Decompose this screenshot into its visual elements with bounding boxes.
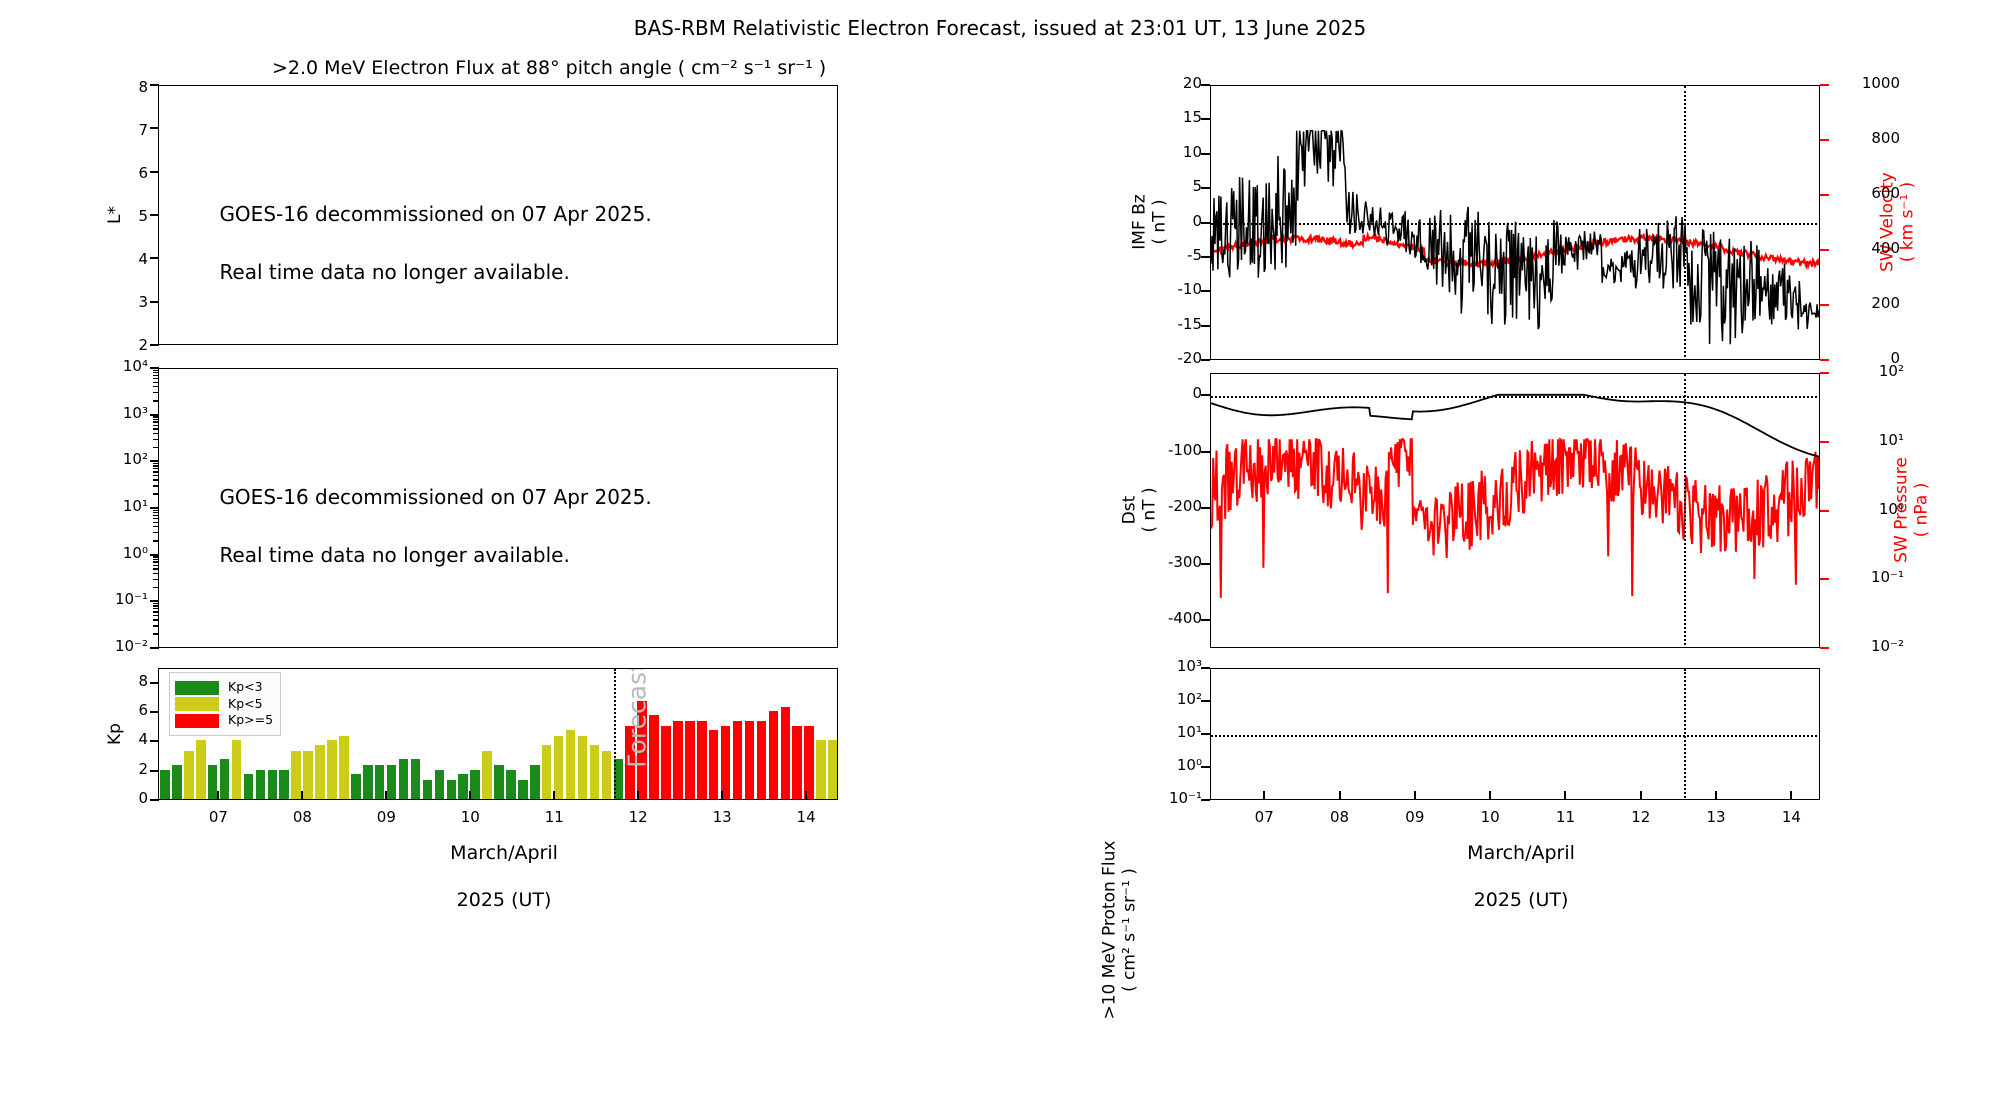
dst-trace — [1211, 374, 1820, 648]
axis-tick-mark — [1201, 187, 1210, 189]
kp-bar — [757, 721, 767, 799]
axis-tick-mark — [153, 633, 159, 634]
kp-bar — [184, 751, 194, 799]
axis-tick-mark — [1820, 84, 1829, 86]
axis-tick-label: 400 — [1834, 239, 1900, 257]
kp-bar — [816, 740, 826, 799]
axis-tick-mark — [1820, 194, 1829, 196]
kp-bar — [411, 759, 421, 799]
proton-xlabel-line2: 2025 (UT) — [1474, 889, 1569, 911]
axis-tick-mark — [1201, 700, 1210, 702]
axis-tick-mark — [217, 791, 219, 800]
axis-tick-label: 10² — [1130, 690, 1202, 708]
kp-bar — [721, 726, 731, 799]
kp-bar — [232, 740, 242, 799]
axis-tick-mark — [469, 791, 471, 800]
axis-tick-mark — [1820, 510, 1829, 512]
axis-tick-mark — [1820, 372, 1829, 374]
kp-legend-swatch-red — [175, 714, 219, 728]
kp-bar — [351, 774, 361, 799]
axis-tick-mark — [1201, 563, 1210, 565]
axis-tick-mark — [1201, 507, 1210, 509]
axis-tick-label: 10³ — [1130, 657, 1202, 675]
axis-tick-mark — [301, 791, 303, 800]
lstar-message-line1: GOES-16 decommissioned on 07 Apr 2025. — [219, 202, 651, 226]
axis-tick-mark — [1820, 578, 1829, 580]
kp-bar — [769, 711, 779, 799]
axis-tick-mark — [153, 433, 159, 434]
axis-tick-label: 5 — [1140, 177, 1202, 195]
axis-tick-mark — [153, 392, 159, 393]
kp-bar — [554, 736, 564, 799]
axis-tick-mark — [153, 615, 159, 616]
axis-tick-mark — [153, 608, 159, 609]
axis-tick-label: 10⁻¹ — [80, 590, 148, 608]
kp-legend-label-0: Kp<3 — [228, 681, 263, 694]
dst-forecast-divider — [1684, 374, 1686, 648]
kp-bar — [447, 780, 457, 799]
axis-tick-mark — [153, 625, 159, 626]
proton-xlabel-line1: March/April — [1467, 842, 1575, 864]
axis-tick-mark — [150, 171, 159, 173]
kp-bar — [685, 721, 695, 799]
panel-dst — [1210, 373, 1820, 648]
lstar-decommission-message: GOES-16 decommissioned on 07 Apr 2025. R… — [194, 171, 652, 316]
axis-tick-mark — [1820, 304, 1829, 306]
lstar-ytick-2: 2 — [98, 336, 148, 354]
axis-tick-mark — [153, 416, 159, 417]
axis-tick-mark — [153, 559, 159, 560]
kp-bar — [375, 765, 385, 799]
kp-bar — [590, 745, 600, 799]
panel-proton-flux — [1210, 668, 1820, 800]
axis-tick-mark — [150, 344, 159, 346]
axis-tick-mark — [150, 770, 159, 772]
axis-tick-label: 14 — [776, 808, 836, 826]
axis-tick-label: 10⁻¹ — [1834, 568, 1904, 586]
axis-tick-mark — [150, 257, 159, 259]
axis-tick-mark — [1564, 791, 1566, 800]
imfbz-forecast-divider — [1684, 86, 1686, 360]
kp-legend-item-2: Kp>=5 — [175, 714, 273, 728]
axis-tick-label: 0 — [1130, 384, 1202, 402]
kp-bar — [804, 726, 814, 799]
axis-tick-label: 0 — [1140, 212, 1202, 230]
panel-imf-bz — [1210, 85, 1820, 360]
kp-xlabel-line1: March/April — [450, 842, 558, 864]
kp-bar — [518, 780, 528, 799]
kp-bar — [399, 759, 409, 799]
axis-tick-mark — [153, 386, 159, 387]
kp-bar — [256, 770, 266, 799]
axis-tick-mark — [153, 587, 159, 588]
kp-bar — [745, 721, 755, 799]
axis-tick-mark — [385, 791, 387, 800]
proton-y-axis-label: >10 MeV Proton Flux ( cm² s⁻¹ sr⁻¹ ) — [1100, 765, 1139, 1095]
kp-legend-swatch-green — [175, 681, 219, 695]
axis-tick-mark — [153, 510, 159, 511]
kp-legend-label-2: Kp>=5 — [228, 714, 273, 727]
axis-tick-mark — [1201, 733, 1210, 735]
axis-tick-label: 2 — [98, 760, 148, 778]
axis-tick-label: 10⁻¹ — [1130, 789, 1202, 807]
kp-bar — [291, 751, 301, 799]
axis-tick-mark — [153, 605, 159, 606]
kp-bar — [268, 770, 278, 799]
kp-bar — [208, 765, 218, 799]
lstar-ytick-5: 5 — [98, 207, 148, 225]
page-title: BAS-RBM Relativistic Electron Forecast, … — [0, 16, 2000, 40]
axis-tick-label: -10 — [1140, 280, 1202, 298]
axis-tick-label: -400 — [1130, 609, 1202, 627]
axis-tick-mark — [150, 301, 159, 303]
axis-tick-mark — [153, 565, 159, 566]
flux-message-line1: GOES-16 decommissioned on 07 Apr 2025. — [219, 485, 651, 509]
axis-tick-label: 08 — [272, 808, 332, 826]
axis-tick-label: 10⁰ — [80, 544, 148, 562]
axis-tick-label: 07 — [1234, 808, 1294, 826]
proton-threshold-line — [1211, 735, 1820, 737]
axis-tick-mark — [153, 375, 159, 376]
axis-tick-mark — [153, 603, 159, 604]
kp-bar — [781, 707, 791, 799]
axis-tick-mark — [153, 518, 159, 519]
kp-bar — [160, 770, 170, 799]
axis-tick-label: 10¹ — [1130, 723, 1202, 741]
axis-tick-label: 08 — [1310, 808, 1370, 826]
axis-tick-mark — [153, 579, 159, 580]
kp-bar — [530, 765, 540, 799]
kp-bar — [709, 730, 719, 799]
axis-tick-mark — [150, 711, 159, 713]
axis-tick-label: 10² — [80, 450, 148, 468]
axis-tick-mark — [153, 556, 159, 557]
axis-tick-mark — [1201, 118, 1210, 120]
panel-lstar: GOES-16 decommissioned on 07 Apr 2025. R… — [158, 85, 838, 345]
kp-bar — [542, 745, 552, 799]
axis-tick-mark — [150, 84, 159, 86]
axis-tick-label: 10¹ — [80, 497, 148, 515]
electron-flux-subtitle: >2.0 MeV Electron Flux at 88° pitch angl… — [272, 57, 826, 79]
axis-tick-label: 20 — [1140, 74, 1202, 92]
axis-tick-mark — [1201, 153, 1210, 155]
imfbz-y-axis-label-right: SW Velocity ( km s⁻¹ ) — [1878, 122, 1917, 322]
axis-tick-mark — [153, 425, 159, 426]
axis-tick-label: 10² — [1834, 362, 1904, 380]
axis-tick-mark — [1201, 290, 1210, 292]
axis-tick-mark — [1820, 441, 1829, 443]
proton-x-axis-label: March/April 2025 (UT) — [1375, 818, 1655, 913]
axis-tick-mark — [153, 611, 159, 612]
kp-bar — [339, 736, 349, 799]
kp-bar — [244, 774, 254, 799]
axis-tick-label: -200 — [1130, 497, 1202, 515]
axis-tick-mark — [150, 214, 159, 216]
axis-tick-mark — [1640, 791, 1642, 800]
kp-bar — [196, 740, 206, 799]
kp-x-axis-label: March/April 2025 (UT) — [358, 818, 638, 913]
panel-electron-flux: GOES-16 decommissioned on 07 Apr 2025. R… — [158, 368, 838, 648]
axis-tick-mark — [1201, 451, 1210, 453]
kp-forecast-divider — [614, 669, 616, 800]
axis-tick-mark — [153, 439, 159, 440]
axis-tick-mark — [153, 370, 159, 371]
kp-bar — [482, 751, 492, 799]
axis-tick-label: 07 — [188, 808, 248, 826]
axis-tick-label: 10 — [1140, 143, 1202, 161]
axis-tick-mark — [1820, 647, 1829, 649]
kp-xlabel-line2: 2025 (UT) — [457, 889, 552, 911]
kp-bar — [458, 774, 468, 799]
axis-tick-label: 10⁻² — [80, 637, 148, 655]
flux-decommission-message: GOES-16 decommissioned on 07 Apr 2025. R… — [194, 454, 652, 599]
axis-tick-mark — [1489, 791, 1491, 800]
axis-tick-mark — [1263, 791, 1265, 800]
axis-tick-mark — [153, 378, 159, 379]
kp-legend-swatch-olive — [175, 697, 219, 711]
axis-tick-label: -100 — [1130, 441, 1202, 459]
axis-tick-mark — [153, 485, 159, 486]
axis-tick-mark — [153, 522, 159, 523]
axis-tick-mark — [150, 127, 159, 129]
axis-tick-label: 600 — [1834, 184, 1900, 202]
axis-tick-label: 200 — [1834, 294, 1900, 312]
axis-tick-mark — [1201, 84, 1210, 86]
kp-bar — [673, 721, 683, 799]
axis-tick-mark — [150, 682, 159, 684]
kp-bar — [602, 751, 612, 799]
lstar-ytick-6: 6 — [98, 164, 148, 182]
axis-tick-label: 14 — [1761, 808, 1821, 826]
kp-bar — [363, 765, 373, 799]
axis-tick-label: 10¹ — [1834, 431, 1904, 449]
axis-tick-label: 10⁻² — [1834, 637, 1904, 655]
axis-tick-mark — [153, 471, 159, 472]
axis-tick-mark — [153, 479, 159, 480]
axis-tick-mark — [1339, 791, 1341, 800]
kp-bar — [494, 765, 504, 799]
flux-message-line2: Real time data no longer available. — [219, 543, 569, 567]
kp-bar — [792, 726, 802, 799]
proton-forecast-divider — [1684, 669, 1686, 800]
axis-tick-mark — [150, 647, 159, 649]
kp-bar — [303, 751, 313, 799]
kp-bar — [733, 721, 743, 799]
axis-tick-label: 8 — [98, 672, 148, 690]
kp-legend-label-1: Kp<5 — [228, 698, 263, 711]
axis-tick-mark — [1820, 359, 1829, 361]
axis-tick-label: 800 — [1834, 129, 1900, 147]
axis-tick-mark — [721, 791, 723, 800]
axis-tick-mark — [153, 526, 159, 527]
axis-tick-mark — [1414, 791, 1416, 800]
imf-bz-trace — [1211, 86, 1820, 360]
kp-bar — [315, 745, 325, 799]
axis-tick-label: -300 — [1130, 553, 1202, 571]
axis-tick-mark — [153, 540, 159, 541]
axis-tick-mark — [1201, 256, 1210, 258]
axis-tick-label: 10⁰ — [1834, 500, 1904, 518]
axis-tick-mark — [153, 400, 159, 401]
axis-tick-mark — [1201, 222, 1210, 224]
axis-tick-label: 13 — [692, 808, 752, 826]
axis-tick-mark — [1201, 619, 1210, 621]
axis-tick-mark — [1820, 249, 1829, 251]
axis-tick-mark — [153, 515, 159, 516]
axis-tick-mark — [1201, 766, 1210, 768]
kp-bar — [697, 721, 707, 799]
axis-tick-mark — [153, 372, 159, 373]
axis-tick-mark — [153, 421, 159, 422]
axis-tick-mark — [153, 468, 159, 469]
kp-bar — [506, 770, 516, 799]
axis-tick-mark — [1201, 359, 1210, 361]
axis-tick-mark — [153, 568, 159, 569]
kp-legend-item-1: Kp<5 — [175, 697, 273, 711]
lstar-ytick-3: 3 — [98, 293, 148, 311]
forecast-watermark: Forecast — [623, 668, 652, 768]
kp-bar — [661, 726, 671, 799]
lstar-ytick-4: 4 — [98, 250, 148, 268]
axis-tick-label: 15 — [1140, 108, 1202, 126]
lstar-ytick-7: 7 — [98, 121, 148, 139]
axis-tick-mark — [153, 419, 159, 420]
axis-tick-mark — [805, 791, 807, 800]
axis-tick-mark — [153, 619, 159, 620]
axis-tick-label: 13 — [1686, 808, 1746, 826]
axis-tick-mark — [153, 475, 159, 476]
kp-legend: Kp<3 Kp<5 Kp>=5 — [169, 672, 281, 736]
axis-tick-label: -15 — [1140, 315, 1202, 333]
kp-bar — [327, 740, 337, 799]
axis-tick-mark — [1820, 139, 1829, 141]
axis-tick-mark — [153, 463, 159, 464]
kp-bar — [566, 730, 576, 799]
axis-tick-mark — [150, 799, 159, 801]
axis-tick-mark — [1201, 667, 1210, 669]
kp-bar — [470, 770, 480, 799]
axis-tick-mark — [153, 465, 159, 466]
axis-tick-mark — [637, 791, 639, 800]
axis-tick-mark — [1715, 791, 1717, 800]
axis-tick-mark — [153, 573, 159, 574]
axis-tick-label: -20 — [1140, 349, 1202, 367]
kp-legend-item-0: Kp<3 — [175, 681, 273, 695]
kp-bar — [387, 765, 397, 799]
lstar-message-line2: Real time data no longer available. — [219, 260, 569, 284]
axis-tick-mark — [1201, 799, 1210, 801]
axis-tick-mark — [153, 428, 159, 429]
kp-bar — [172, 765, 182, 799]
lstar-ytick-8: 8 — [98, 78, 148, 96]
axis-tick-mark — [153, 382, 159, 383]
axis-tick-mark — [553, 791, 555, 800]
kp-bar — [279, 770, 289, 799]
axis-tick-mark — [1790, 791, 1792, 800]
kp-bar — [220, 759, 230, 799]
axis-tick-mark — [153, 532, 159, 533]
axis-tick-mark — [153, 447, 159, 448]
kp-bar — [828, 740, 838, 799]
axis-tick-mark — [153, 493, 159, 494]
axis-tick-label: 4 — [98, 730, 148, 748]
axis-tick-mark — [1201, 325, 1210, 327]
kp-bar — [423, 780, 433, 799]
axis-tick-mark — [150, 740, 159, 742]
axis-tick-label: -5 — [1140, 246, 1202, 264]
axis-tick-label: 0 — [98, 789, 148, 807]
axis-tick-label: 10³ — [80, 404, 148, 422]
axis-tick-mark — [153, 561, 159, 562]
axis-tick-mark — [153, 512, 159, 513]
axis-tick-label: 6 — [98, 701, 148, 719]
kp-bar — [435, 770, 445, 799]
axis-tick-label: 10⁴ — [80, 357, 148, 375]
axis-tick-label: 1000 — [1834, 74, 1900, 92]
axis-tick-label: 10⁰ — [1130, 756, 1202, 774]
kp-bar — [578, 736, 588, 799]
axis-tick-mark — [1201, 394, 1210, 396]
